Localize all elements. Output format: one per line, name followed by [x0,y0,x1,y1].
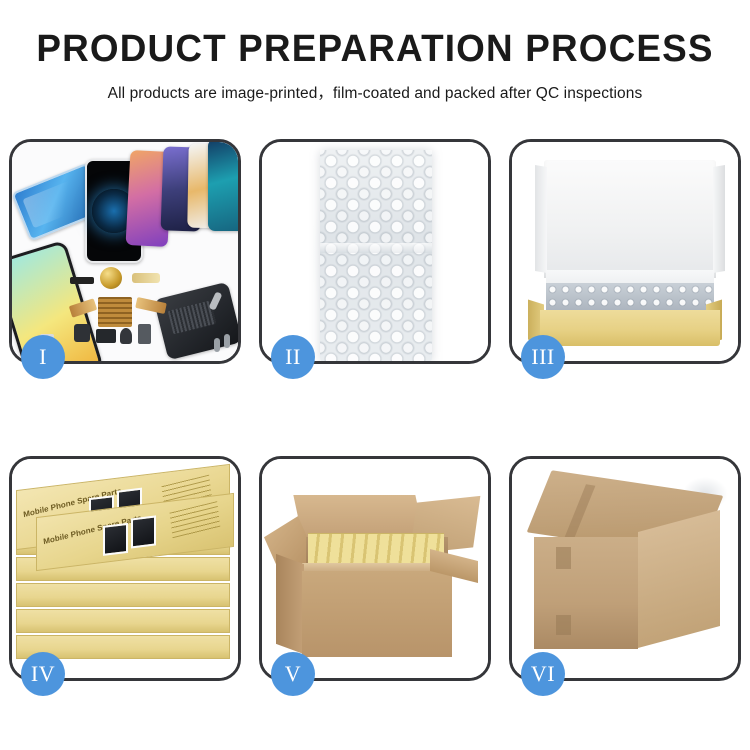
carton-front-face-icon [302,571,452,657]
box-screen-graphic-icon [131,515,156,548]
teal-phone-icon [208,142,238,231]
page-header: PRODUCT PREPARATION PROCESS All products… [0,0,750,103]
step-badge-4: IV [21,652,65,696]
process-step-card-5[interactable]: V [259,456,491,681]
step-badge-1: I [21,335,65,379]
page-subtitle: All products are image-printed，film-coat… [0,81,750,103]
phone-parts-illustration [12,142,238,361]
sealed-carton-illustration [512,459,738,678]
stacked-box-icon [16,583,230,607]
retail-box-stack-illustration: Mobile Phone Spare Parts Mobile Phone Sp… [12,459,238,678]
bubble-wrap-contents-icon [546,283,714,313]
carton-tape-upper-icon [556,547,571,569]
bubble-wrap-illustration [262,142,488,361]
step-image-1 [12,142,238,361]
sealed-carton-front-face-icon [534,537,638,649]
process-step-card-3[interactable]: III [509,139,741,364]
box-text-block-icon [169,501,220,540]
process-step-card-1[interactable]: I [9,139,241,364]
sealed-carton-right-face-icon [638,510,720,648]
step-image-2 [262,142,488,361]
screw-part-icon [224,334,230,348]
step-image-4: Mobile Phone Spare Parts Mobile Phone Sp… [12,459,238,678]
box-lid-icon [544,160,716,278]
sim-tray-part-icon [138,324,151,344]
process-step-card-2[interactable]: II [259,139,491,364]
inner-box-illustration [512,142,738,361]
camera-module-icon [74,324,90,342]
phone-back-housing-icon [154,282,238,361]
carton-left-face-icon [276,554,304,654]
step-image-5 [262,459,488,678]
box-front-panel-icon [540,310,720,346]
stacked-box-icon [16,609,230,633]
gold-coil-part-icon [100,267,122,289]
page-title: PRODUCT PREPARATION PROCESS [11,30,739,68]
chip-grid-part-icon [98,297,132,327]
step-badge-6: VI [521,652,565,696]
step-badge-3: III [521,335,565,379]
step-badge-5: V [271,652,315,696]
box-screen-graphic-icon [103,523,128,556]
process-step-card-4[interactable]: Mobile Phone Spare Parts Mobile Phone Sp… [9,456,241,681]
flex-cable-part-icon [70,277,94,284]
carton-filling-illustration [262,459,488,678]
gold-connector-part-icon [132,273,160,283]
bubble-wrap-pouch-icon [320,150,432,361]
process-step-grid: I II III [9,139,741,681]
step-image-6 [512,459,738,678]
screw-part-icon [214,338,220,352]
step-image-3 [512,142,738,361]
speaker-part-icon [96,329,116,343]
carton-tape-lower-icon [556,615,571,635]
step-badge-2: II [271,335,315,379]
button-part-icon [120,328,132,344]
process-step-card-6[interactable]: VI [509,456,741,681]
